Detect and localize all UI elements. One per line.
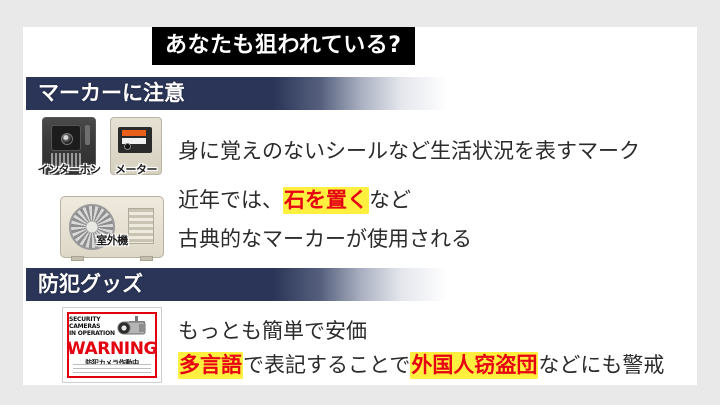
sign-english-text: SECURITY CAMERAS IN OPERATION: [69, 316, 115, 337]
security-camera-icon: [115, 316, 153, 338]
thumbnail-intercom: インターホン: [42, 117, 96, 175]
section-header-label: マーカーに注意: [26, 83, 185, 104]
infographic-slide: あなたも狙われている? マーカーに注意 インターホン メーター: [0, 0, 720, 405]
body-line-2: 近年では、石を置くなど: [178, 190, 411, 211]
camera-lens-icon: [61, 133, 73, 145]
body-line-1: 身に覚えのないシールなど生活状況を表すマーク: [178, 141, 640, 162]
thumbnail-warning-sign: SECURITY CAMERAS IN OPERATION WARNING 防犯…: [62, 307, 162, 383]
body-line-5: 多言語で表記することで外国人窃盗団などにも警戒: [178, 355, 664, 376]
title-banner: あなたも狙われている?: [152, 27, 415, 65]
body-line-4: もっとも簡単で安価: [178, 321, 367, 342]
thumbnail-caption: 室外機: [96, 232, 128, 248]
thumbnail-caption: インターホン: [38, 161, 101, 177]
body-line-3: 古典的なマーカーが使用される: [178, 229, 472, 250]
thumbnail-outdoor-unit: 室外機: [60, 196, 164, 258]
section-header-label: 防犯グッズ: [26, 274, 143, 295]
air-conditioner-icon: [60, 196, 164, 258]
section-header-marker-warning: マーカーに注意: [26, 77, 695, 110]
thumbnail-meter: メーター: [110, 117, 162, 175]
title-text: あなたも狙われている?: [165, 35, 402, 57]
highlight-foreign-theft-group: 外国人窃盗団: [410, 352, 538, 379]
thumbnail-caption: メーター: [115, 161, 157, 177]
section-header-security-goods: 防犯グッズ: [26, 268, 695, 301]
sign-warning-headline: WARNING: [63, 341, 161, 358]
highlight-stone: 石を置く: [283, 187, 369, 214]
highlight-multilingual: 多言語: [178, 352, 243, 379]
